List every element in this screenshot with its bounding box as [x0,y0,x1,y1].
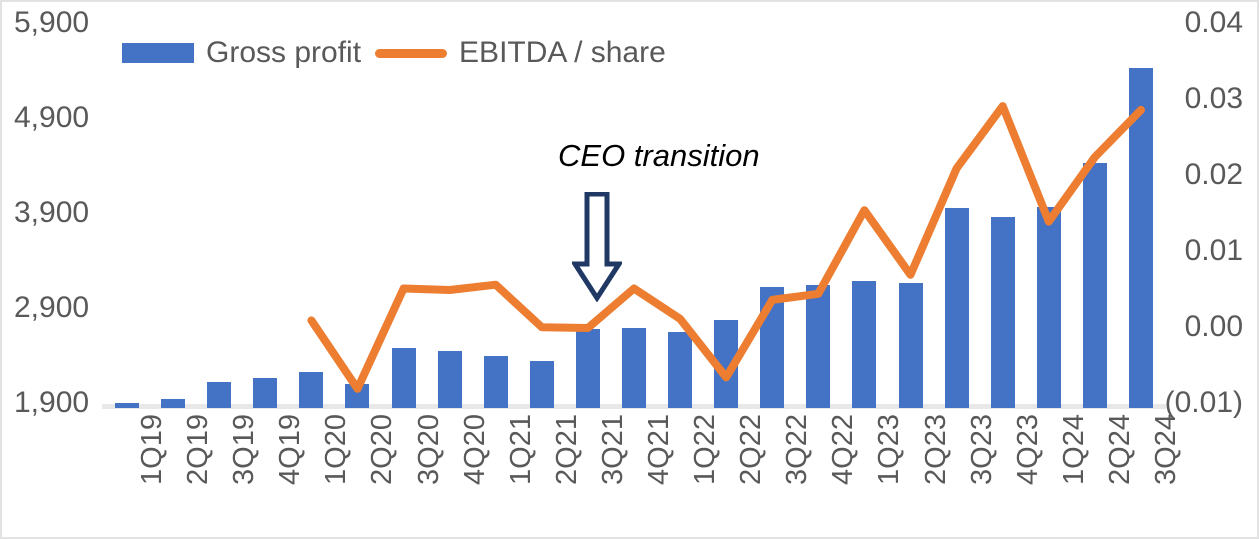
x-axis-tick-label: 2Q22 [737,414,766,485]
bar [345,384,369,408]
bar [945,208,969,408]
bar [115,403,139,408]
plot-area [104,16,1164,408]
bar [576,329,600,408]
x-axis-tick-label: 4Q22 [829,414,858,485]
down-arrow-icon [572,192,622,302]
legend-item-ebitda-per-share: EBITDA / share [375,36,666,70]
bar [668,332,692,408]
y2-axis-tick-label: 0.04 [1185,8,1243,38]
bar [899,283,923,408]
x-axis-tick-label: 1Q23 [875,414,904,485]
legend-label-ebitda-per-share: EBITDA / share [459,36,666,70]
legend-label-gross-profit: Gross profit [206,36,361,70]
bar [806,285,830,409]
x-axis-tick-label: 2Q21 [553,414,582,485]
x-axis-tick-label: 2Q19 [184,414,213,485]
bar [392,348,416,408]
x-axis-tick-label: 1Q21 [507,414,536,485]
bar [299,372,323,408]
bar [1083,163,1107,408]
x-axis-tick-label: 1Q19 [138,414,167,485]
x-axis-tick-label: 2Q20 [368,414,397,485]
bar [1129,68,1153,408]
y2-axis-tick-label: 0.00 [1185,312,1243,342]
annotation-label: CEO transition [558,138,760,174]
x-axis-tick-label: 4Q20 [461,414,490,485]
bar [438,351,462,408]
chart-legend: Gross profit EBITDA / share [122,36,666,70]
y-axis-tick-label: 4,900 [14,103,89,133]
bar [207,382,231,408]
bar [714,320,738,408]
y-axis-tick-label: 3,900 [14,198,89,228]
bar [852,281,876,408]
x-axis-tick-label: 3Q24 [1152,414,1181,485]
bar [622,328,646,408]
x-axis-tick-label: 4Q21 [645,414,674,485]
chart-container: 1,9002,9003,9004,9005,900 (0.01)0.000.01… [0,0,1259,539]
bar [484,356,508,408]
y2-axis-tick-label: 0.01 [1185,236,1243,266]
bar-swatch-icon [122,43,194,63]
bar [760,287,784,408]
x-axis-tick-label: 2Q24 [1106,414,1135,485]
x-axis-tick-label: 4Q23 [1014,414,1043,485]
x-axis-tick-label: 3Q20 [415,414,444,485]
line-swatch-icon [375,49,447,58]
y2-axis-tick-label: 0.03 [1185,84,1243,114]
x-axis-tick-label: 3Q21 [599,414,628,485]
bar [161,399,185,408]
bar [253,378,277,408]
x-axis-tick-label: 3Q19 [230,414,259,485]
x-axis-tick-label: 3Q22 [783,414,812,485]
x-axis-tick-label: 1Q24 [1060,414,1089,485]
y-axis-tick-label: 2,900 [14,293,89,323]
y-axis-tick-label: 1,900 [14,388,89,418]
bar [1037,207,1061,408]
x-axis-tick-label: 1Q20 [322,414,351,485]
x-axis-tick-label: 1Q22 [691,414,720,485]
x-axis-tick-label: 4Q19 [276,414,305,485]
bar [530,361,554,409]
bar [991,217,1015,408]
x-axis-tick-label: 2Q23 [922,414,951,485]
x-axis-tick-label: 3Q23 [968,414,997,485]
y-axis-tick-label: 5,900 [14,8,89,38]
legend-item-gross-profit: Gross profit [122,36,361,70]
y2-axis-tick-label: 0.02 [1185,160,1243,190]
